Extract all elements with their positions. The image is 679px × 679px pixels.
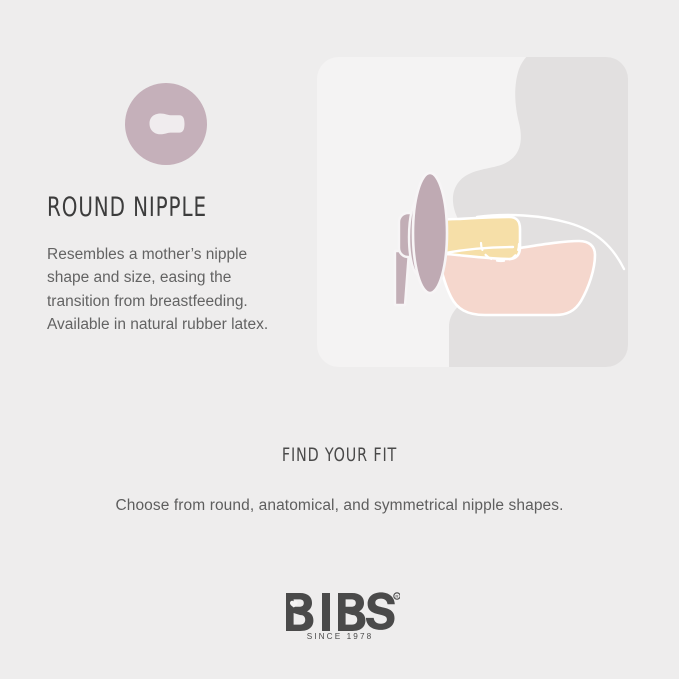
baby-head-silhouette [449,57,628,367]
bibs-wordmark [286,592,395,631]
find-your-fit-section: FIND YOUR FIT Choose from round, anatomi… [0,444,679,515]
find-your-fit-subtitle: Choose from round, anatomical, and symme… [0,497,679,515]
find-your-fit-title: FIND YOUR FIT [54,444,624,466]
feature-description: Resembles a mother’s nipple shape and si… [47,243,292,337]
svg-text:R: R [395,594,398,599]
feature-info-column: ROUND NIPPLE Resembles a mother’s nipple… [47,83,297,337]
round-nipple-shape-icon [125,83,207,165]
logo-tagline: SINCE 1978 [306,632,373,641]
feature-title: ROUND NIPPLE [47,193,252,223]
baby-mouth-anatomy-illustration [317,57,628,367]
bibs-logo: R SINCE 1978 [0,589,679,646]
pacifier-shield [413,173,447,293]
product-feature-card: ROUND NIPPLE Resembles a mother’s nipple… [0,0,679,679]
